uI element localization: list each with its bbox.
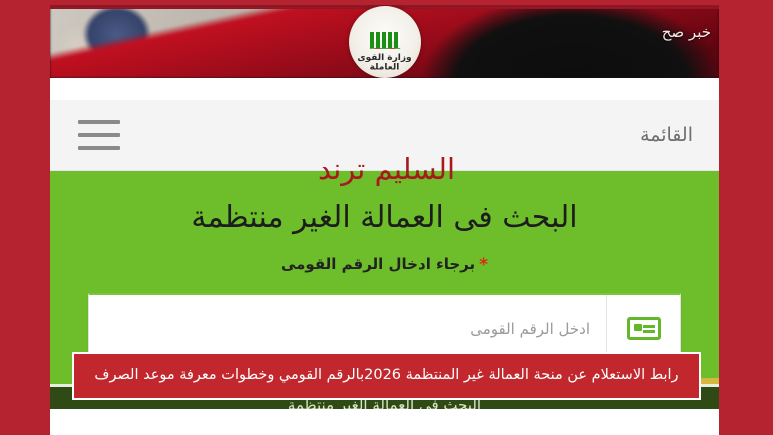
panel-subtitle: *برجاء ادخال الرقم القومى: [50, 255, 719, 275]
headline-banner-text: رابط الاستعلام عن منحة العمالة غير المنت…: [88, 367, 684, 384]
header-spacer: [50, 78, 719, 100]
hamburger-bar-3: [78, 146, 120, 150]
emblem-bars-icon: [370, 32, 400, 48]
headline-banner-overlay: رابط الاستعلام عن منحة العمالة غير المنت…: [72, 352, 701, 400]
page-frame-right: [719, 0, 773, 435]
required-asterisk: *: [479, 255, 488, 275]
page-frame-left: [0, 0, 50, 435]
panel-title: البحث فى العمالة الغير منتظمة: [50, 199, 719, 237]
hamburger-bar-2: [78, 133, 120, 137]
site-header-banner: وزارة القوى العاملة خبر صح: [50, 5, 719, 78]
panel-subtitle-text: برجاء ادخال الرقم القومى: [281, 255, 475, 273]
ministry-logo: وزارة القوى العاملة: [349, 6, 421, 78]
hamburger-bar-1: [78, 120, 120, 124]
id-card-icon: [627, 317, 661, 340]
navbar-menu-label[interactable]: القائمة: [640, 124, 693, 146]
national-id-input[interactable]: ادخل الرقم القومى: [105, 320, 590, 338]
hamburger-menu-icon[interactable]: [78, 120, 120, 150]
screenshot-root: وزارة القوى العاملة خبر صح القائمة البحث…: [0, 0, 773, 435]
site-navbar: القائمة: [50, 100, 719, 171]
site-watermark: خبر صح: [662, 23, 711, 41]
ministry-logo-label: وزارة القوى العاملة: [349, 53, 421, 72]
